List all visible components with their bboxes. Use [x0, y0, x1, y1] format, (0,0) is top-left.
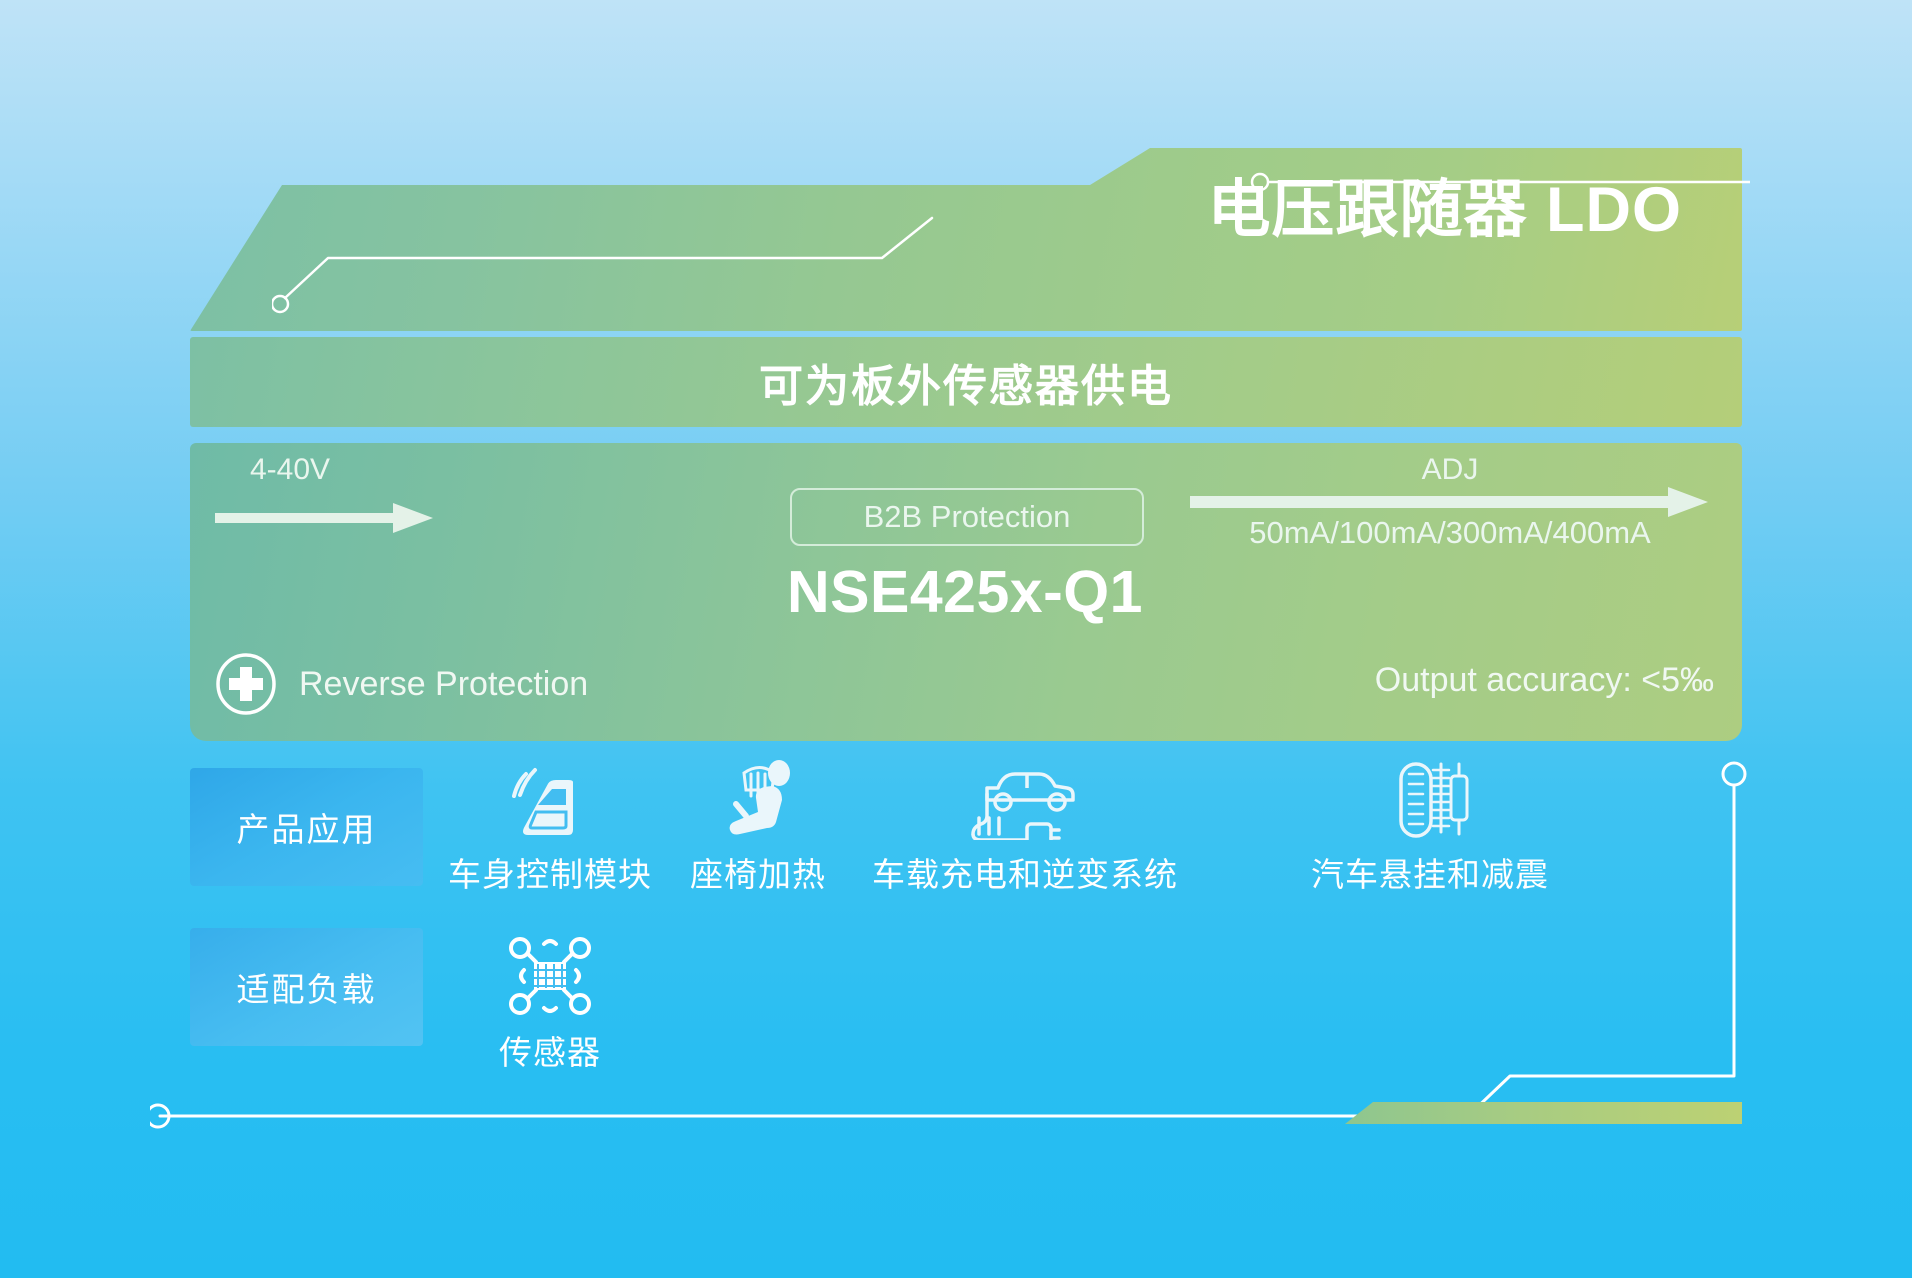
reverse-protection-group: Reverse Protection	[215, 653, 588, 715]
adj-label: ADJ	[1190, 453, 1710, 487]
output-spec-group: ADJ 50mA/100mA/300mA/400mA	[1190, 453, 1710, 551]
circuit-trace-bottom-icon	[150, 760, 1770, 1130]
b2b-protection-label: B2B Protection	[864, 499, 1071, 535]
arrow-right-icon	[215, 501, 435, 535]
subtitle-text: 可为板外传感器供电	[759, 350, 1173, 414]
arrow-right-icon	[1190, 487, 1710, 517]
circuit-trace-left-icon	[272, 208, 992, 318]
output-current-label: 50mA/100mA/300mA/400mA	[1190, 515, 1710, 551]
input-voltage-label: 4-40V	[250, 453, 330, 487]
reverse-protection-label: Reverse Protection	[299, 665, 588, 704]
output-accuracy-label: Output accuracy: <5‰	[1375, 661, 1714, 700]
spec-panel: 4-40V B2B Protection NSE425x-Q1 ADJ 50mA…	[190, 443, 1742, 741]
plus-circle-icon	[215, 653, 277, 715]
part-number: NSE425x-Q1	[730, 558, 1200, 626]
subtitle-bar: 可为板外传感器供电	[190, 337, 1742, 427]
hero-title: 电压跟随器 LDO	[1208, 176, 1683, 245]
bottom-accent-bar	[1345, 1102, 1742, 1124]
b2b-protection-badge: B2B Protection	[790, 488, 1144, 546]
hero-banner: 电压跟随器 LDO	[190, 148, 1742, 331]
infographic-canvas: 电压跟随器 LDO 可为板外传感器供电 4-40V B2B Protection…	[0, 0, 1912, 1278]
